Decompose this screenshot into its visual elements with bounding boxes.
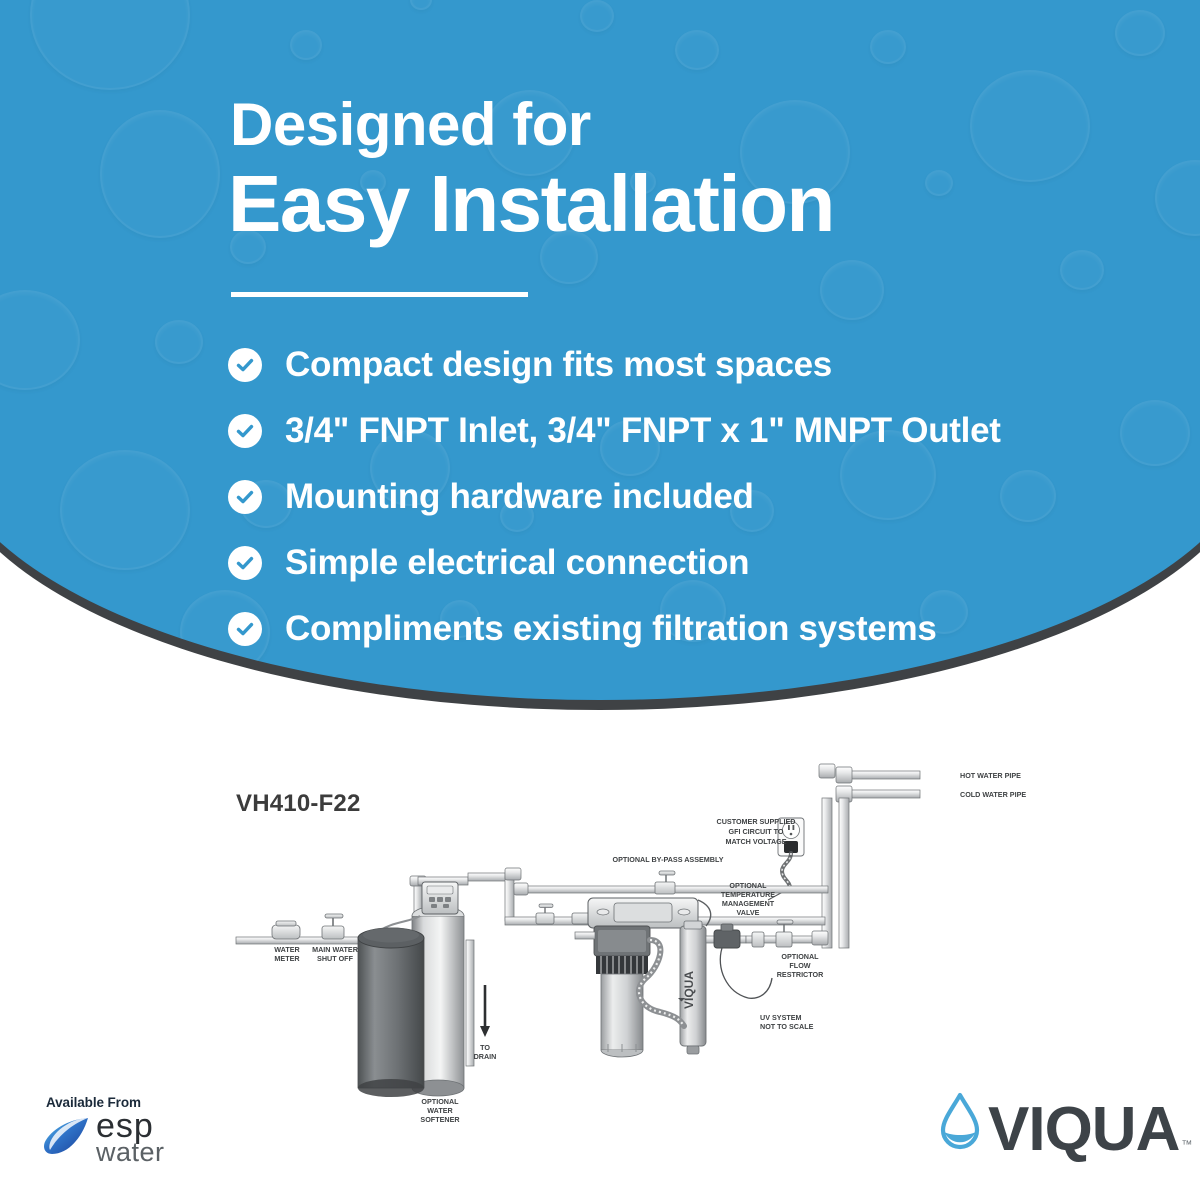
viqua-branding: VIQUA ™ — [938, 1092, 1192, 1155]
label-water-meter-line2: METER — [274, 954, 300, 963]
list-item: Compact design fits most spaces — [228, 332, 1001, 398]
bullet-label: 3/4" FNPT Inlet, 3/4" FNPT x 1" MNPT Out… — [285, 411, 1001, 451]
uv-brand-text: VIQUA — [682, 971, 696, 1009]
label-flow-line2: FLOW — [789, 961, 810, 970]
title-divider — [231, 292, 528, 297]
hero-title-line2: Easy Installation — [228, 162, 834, 246]
check-circle-icon — [228, 546, 262, 580]
esp-water-branding: Available From esp water — [42, 1095, 222, 1164]
label-water-meter-line1: WATER — [274, 945, 300, 954]
label-tmv-line2: TEMPERATURE — [721, 890, 775, 899]
label-uv-note-line2: NOT TO SCALE — [760, 1022, 814, 1031]
brine-tank — [358, 928, 424, 1098]
label-to-drain-line1: TO — [480, 1043, 490, 1052]
hero-panel: Designed for Easy Installation Compact d… — [0, 0, 1200, 700]
esp-wordmark-secondary: water — [96, 1141, 165, 1164]
label-bypass-assembly: OPTIONAL BY-PASS ASSEMBLY — [612, 855, 723, 864]
bullet-label: Compliments existing filtration systems — [285, 609, 937, 649]
label-gfi-line1: CUSTOMER SUPPLIED — [717, 817, 796, 826]
main-water-shutoff-valve — [322, 914, 344, 939]
list-item: Mounting hardware included — [228, 464, 1001, 530]
viqua-wordmark: VIQUA — [988, 1105, 1179, 1155]
check-circle-icon — [228, 414, 262, 448]
list-item: 3/4" FNPT Inlet, 3/4" FNPT x 1" MNPT Out… — [228, 398, 1001, 464]
label-gfi-line2: GFI CIRCUIT TO — [729, 827, 784, 836]
label-cold-water-pipe: COLD WATER PIPE — [960, 790, 1026, 799]
softener-control-head — [422, 882, 458, 914]
list-item: Compliments existing filtration systems — [228, 596, 1001, 662]
uv-controller — [588, 898, 698, 928]
check-circle-icon — [228, 348, 262, 382]
viqua-trademark-symbol: ™ — [1181, 1139, 1192, 1151]
check-circle-icon — [228, 612, 262, 646]
label-gfi-line3: MATCH VOLTAGE — [725, 837, 786, 846]
water-softener — [358, 882, 490, 1097]
label-shutoff-line1: MAIN WATER — [312, 945, 359, 954]
uv-system: VIQUA — [575, 898, 711, 1057]
bullet-label: Mounting hardware included — [285, 477, 754, 517]
viqua-droplet-icon — [938, 1092, 982, 1155]
label-tmv-line3: MANAGEMENT — [722, 899, 775, 908]
inline-valve-b — [572, 913, 590, 924]
label-tmv-line1: OPTIONAL — [729, 881, 767, 890]
label-shutoff-line2: SHUT OFF — [317, 954, 354, 963]
inline-valve-a — [536, 904, 554, 924]
esp-droplet-leaf-icon — [42, 1114, 94, 1163]
water-meter — [272, 921, 300, 939]
poster-canvas: Designed for Easy Installation Compact d… — [0, 0, 1200, 1200]
bullet-label: Simple electrical connection — [285, 543, 749, 583]
label-softener-line2: WATER — [427, 1106, 453, 1115]
hero-title-line1: Designed for — [230, 95, 591, 155]
label-hot-water-pipe: HOT WATER PIPE — [960, 771, 1021, 780]
label-uv-note-line1: UV SYSTEM — [760, 1013, 802, 1022]
label-tmv-line4: VALVE — [737, 908, 760, 917]
feature-bullet-list: Compact design fits most spaces 3/4" FNP… — [228, 332, 1001, 662]
installation-diagram: VH410-F22 — [0, 740, 1200, 1140]
bypass-valve — [655, 871, 675, 894]
bullet-label: Compact design fits most spaces — [285, 345, 832, 385]
check-circle-icon — [228, 480, 262, 514]
label-softener-line1: OPTIONAL — [421, 1097, 459, 1106]
list-item: Simple electrical connection — [228, 530, 1001, 596]
house-supply-pipes — [819, 764, 920, 948]
uv-reactor-chamber: VIQUA — [678, 921, 706, 1054]
label-to-drain-line2: DRAIN — [474, 1052, 497, 1061]
diagram-illustration: HOT WATER PIPE COLD WATER PIPE CUSTOMER … — [0, 740, 1200, 1140]
label-softener-line3: SOFTENER — [420, 1115, 460, 1124]
label-flow-line3: RESTRICTOR — [777, 970, 824, 979]
label-flow-line1: OPTIONAL — [781, 952, 819, 961]
